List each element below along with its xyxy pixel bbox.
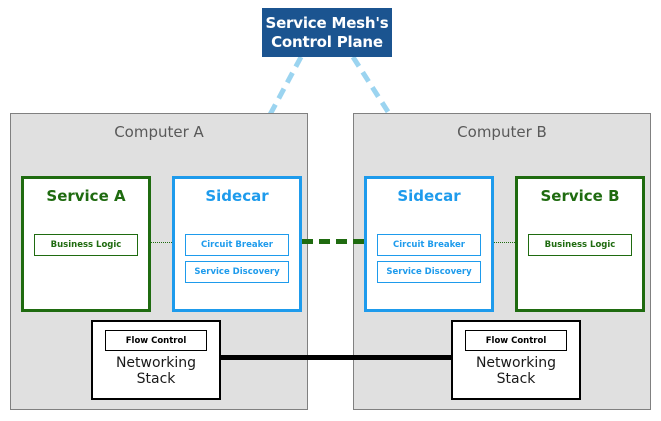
service-a-title: Service A xyxy=(24,187,148,205)
control-plane-line2: Control Plane xyxy=(271,33,383,52)
computer-a-title: Computer A xyxy=(11,123,307,141)
networking-stack-a-label: Networking Stack xyxy=(93,355,219,387)
computer-b-title: Computer B xyxy=(354,123,650,141)
service-mesh-diagram: Service Mesh's Control Plane Computer A … xyxy=(0,0,661,421)
control-plane-line1: Service Mesh's xyxy=(265,14,388,33)
networking-stack-b-line1: Networking xyxy=(453,355,579,371)
sidecar-b-box[interactable]: Sidecar Circuit Breaker Service Discover… xyxy=(364,176,494,312)
sidecar-b-circuit-breaker-box[interactable]: Circuit Breaker xyxy=(377,234,481,256)
service-a-business-logic-box[interactable]: Business Logic xyxy=(34,234,138,256)
flow-control-b-box[interactable]: Flow Control xyxy=(465,330,567,351)
networking-stack-a-to-b-connector xyxy=(221,355,451,360)
service-b-title: Service B xyxy=(518,187,642,205)
networking-stack-b-line2: Stack xyxy=(453,371,579,387)
sidecar-b-title: Sidecar xyxy=(367,187,491,205)
sidecar-b-service-discovery-box[interactable]: Service Discovery xyxy=(377,261,481,283)
sidecar-a-service-discovery-box[interactable]: Service Discovery xyxy=(185,261,289,283)
sidecar-a-title: Sidecar xyxy=(175,187,299,205)
flow-control-a-box[interactable]: Flow Control xyxy=(105,330,207,351)
service-b-business-logic-box[interactable]: Business Logic xyxy=(528,234,632,256)
service-a-to-sidecar-a-connector xyxy=(151,242,172,243)
networking-stack-a-box[interactable]: Flow Control Networking Stack xyxy=(91,320,221,400)
sidecar-a-circuit-breaker-box[interactable]: Circuit Breaker xyxy=(185,234,289,256)
service-a-box[interactable]: Service A Business Logic xyxy=(21,176,151,312)
networking-stack-b-label: Networking Stack xyxy=(453,355,579,387)
sidecar-a-box[interactable]: Sidecar Circuit Breaker Service Discover… xyxy=(172,176,302,312)
service-b-box[interactable]: Service B Business Logic xyxy=(515,176,645,312)
networking-stack-a-line2: Stack xyxy=(93,371,219,387)
networking-stack-a-line1: Networking xyxy=(93,355,219,371)
sidecar-b-to-service-b-connector xyxy=(494,242,515,243)
control-plane-box[interactable]: Service Mesh's Control Plane xyxy=(262,8,392,57)
networking-stack-b-box[interactable]: Flow Control Networking Stack xyxy=(451,320,581,400)
sidecar-a-to-sidecar-b-connector xyxy=(302,239,364,244)
